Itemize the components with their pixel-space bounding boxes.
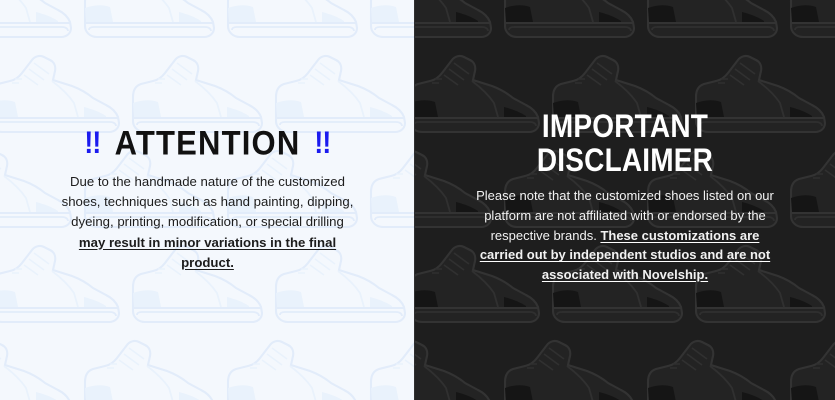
attention-content: !! ATTENTION !! Due to the handmade natu… — [0, 0, 415, 400]
disclaimer-content: IMPORTANT DISCLAIMER Please note that th… — [415, 0, 835, 400]
exclamation-left-icon: !! — [84, 127, 100, 158]
attention-body: Due to the handmade nature of the custom… — [58, 172, 358, 272]
disclaimer-body: Please note that the customized shoes li… — [470, 186, 780, 285]
attention-heading: !! ATTENTION !! — [84, 127, 331, 158]
attention-heading-text: ATTENTION — [115, 125, 301, 160]
attention-body-emphasis: may result in minor variations in the fi… — [79, 235, 336, 270]
disclaimer-banner: !! ATTENTION !! Due to the handmade natu… — [0, 0, 835, 400]
exclamation-right-icon: !! — [315, 127, 331, 158]
panel-divider — [414, 0, 415, 400]
disclaimer-heading-line-1: IMPORTANT — [537, 111, 713, 144]
attention-panel: !! ATTENTION !! Due to the handmade natu… — [0, 0, 415, 400]
disclaimer-panel: IMPORTANT DISCLAIMER Please note that th… — [415, 0, 835, 400]
disclaimer-heading-line-2: DISCLAIMER — [537, 144, 713, 177]
attention-body-normal: Due to the handmade nature of the custom… — [62, 174, 354, 229]
disclaimer-heading: IMPORTANT DISCLAIMER — [537, 111, 713, 177]
